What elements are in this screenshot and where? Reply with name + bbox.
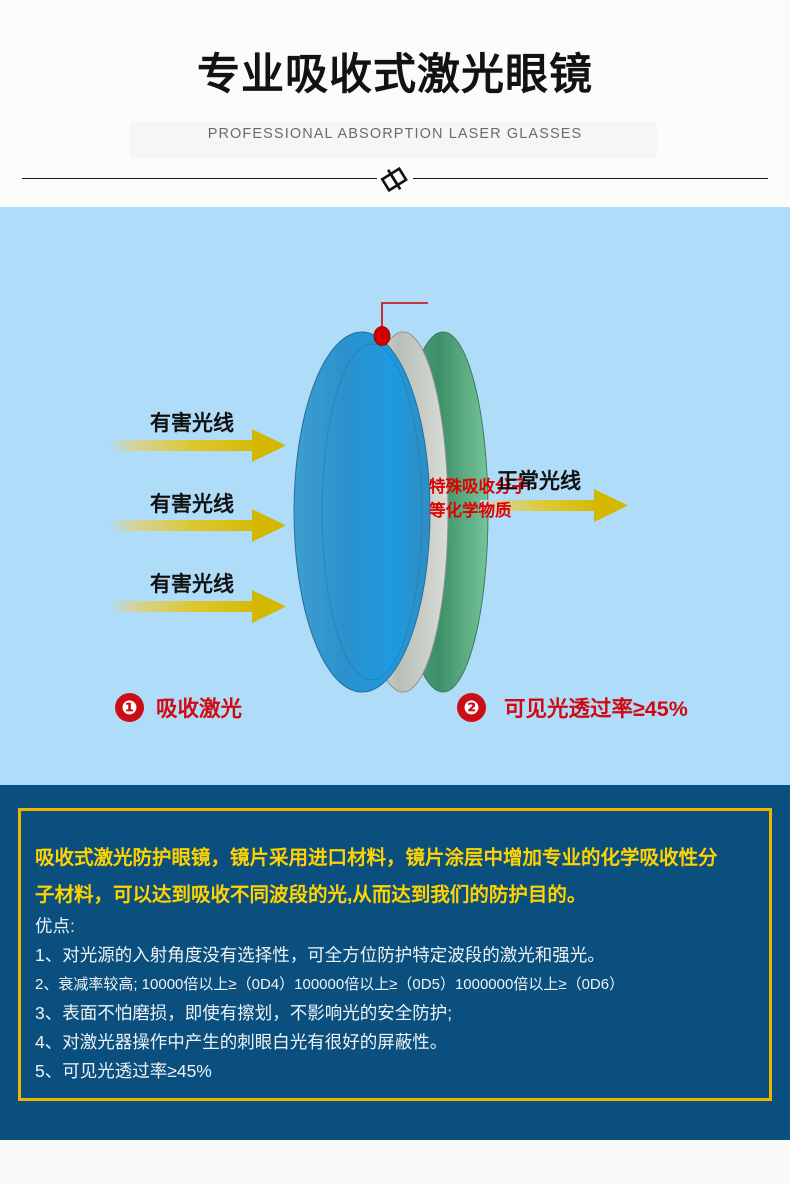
divider-line-left: [22, 178, 377, 179]
page-header: 专业吸收式激光眼镜 PROFESSIONAL ABSORPTION LASER …: [0, 0, 790, 207]
info-heading-line-2: 子材料，可以达到吸收不同波段的光,从而达到我们的防护目的。: [35, 877, 759, 914]
info-heading: 吸收式激光防护眼镜，镜片采用进口材料，镜片涂层中增加专业的化学吸收性分 子材料，…: [35, 840, 759, 914]
advantage-item-4: 4、对激光器操作中产生的刺眼白光有很好的屏蔽性。: [35, 1028, 759, 1057]
callout-line-2: 等化学物质: [429, 499, 609, 523]
info-panel: 吸收式激光防护眼镜，镜片采用进口材料，镜片涂层中增加专业的化学吸收性分 子材料，…: [0, 785, 790, 1140]
harmful-light-label-3: 有害光线: [150, 568, 234, 598]
page-subtitle: PROFESSIONAL ABSORPTION LASER GLASSES: [0, 126, 790, 142]
product-detail-page: 专业吸收式激光眼镜 PROFESSIONAL ABSORPTION LASER …: [0, 0, 790, 1184]
info-heading-line-1: 吸收式激光防护眼镜，镜片采用进口材料，镜片涂层中增加专业的化学吸收性分: [35, 840, 759, 877]
advantage-item-5: 5、可见光透过率≥45%: [35, 1057, 759, 1086]
divider-line-right: [413, 178, 768, 179]
advantage-item-3: 3、表面不怕磨损，即使有擦划，不影响光的安全防护;: [35, 999, 759, 1028]
badge-label-2: 可见光透过率≥45%: [504, 692, 688, 723]
badge-number-2: ❷: [457, 693, 486, 722]
page-footer: [0, 1140, 790, 1184]
advantages-label: 优点:: [35, 912, 759, 941]
advantages-block: 优点: 1、对光源的入射角度没有选择性，可全方位防护特定波段的激光和强光。 2、…: [35, 912, 759, 1086]
badge-number-1: ❶: [115, 693, 144, 722]
harmful-light-label-1: 有害光线: [150, 407, 234, 437]
normal-light-label: 正常光线: [497, 465, 581, 495]
harmful-light-label-2: 有害光线: [150, 488, 234, 518]
advantage-item-2: 2、衰减率较高; 10000倍以上≥（0D4）100000倍以上≥（0D5）10…: [35, 970, 759, 999]
red-molecule-dot-icon: [374, 327, 390, 346]
lens-illustration: 特殊吸收分子 等化学物质 有害光线 有害光线 有害光线 正常光线 ❶ 吸收激光 …: [0, 207, 790, 785]
blue-lens-layer: [294, 332, 430, 692]
diamond-knot-ornament-icon: [378, 165, 412, 193]
page-title: 专业吸收式激光眼镜: [0, 48, 790, 102]
badge-label-1: 吸收激光: [156, 692, 242, 723]
feature-badge-row: ❶ 吸收激光 ❷ 可见光透过率≥45%: [0, 687, 790, 733]
advantage-item-1: 1、对光源的入射角度没有选择性，可全方位防护特定波段的激光和强光。: [35, 941, 759, 970]
